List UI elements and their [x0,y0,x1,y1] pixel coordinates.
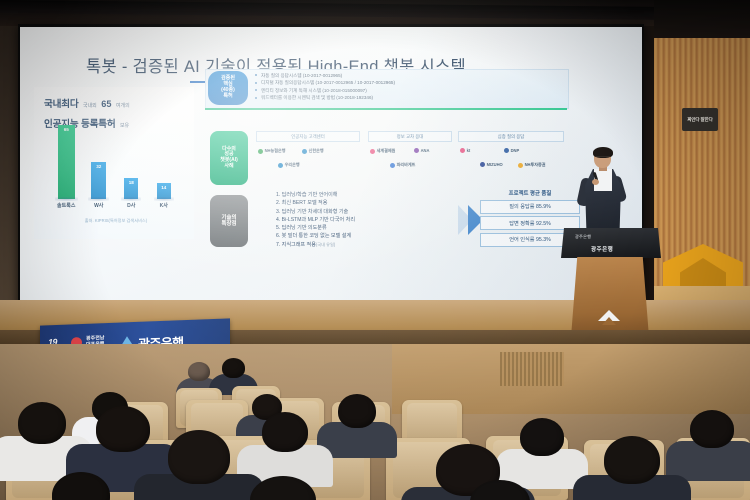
feature-item: 4. Bi-LSTM과 MLP 기반 다국어 처리 [276,216,456,224]
screenshot-root: 톡봇 - 검증된 AI 기술이 적용된 High-End 챗봇 시스템 국내최다… [0,0,750,500]
podium-logo: 광주은행 [575,234,591,240]
logo-column: 인공지능 고객센터NH농협은행신한은행우리은행 [256,131,360,186]
speaker-person [577,148,629,232]
glasses-icon [595,156,610,160]
client-logo-label: 신한은행 [309,148,324,154]
chart-head-mid: 국내외 [83,103,97,109]
client-logo-mark-icon [302,149,307,154]
bar-chart-plot: 65321814 [50,119,180,199]
audience-head [690,410,734,448]
chart-head-prefix: 국내최다 [44,99,79,110]
client-logo-mark-icon [414,148,419,153]
feature-item: 6. 봇 빌더 통한 코딩 없는 모델 설계 [276,232,456,240]
client-logo-mark-icon [278,163,283,168]
features-tag-line-1: 특장점 [222,221,237,227]
logo-column-header: 정보 교차 응대 [368,131,452,142]
green-divider [205,108,567,110]
chart-head-suffix: 여개의 [116,103,130,109]
client-logo-mark-icon [480,162,485,167]
client-logo-label: DNP [511,148,520,153]
presentation-slide: 톡봇 - 검증된 AI 기술이 적용된 High-End 챗봇 시스템 국내최다… [20,27,642,309]
patent-tag: 검증된핵심(40종)특허 [208,71,248,105]
audience-head [520,418,564,456]
client-logo-label: ANA [421,148,430,153]
audience-head [338,394,376,428]
chart-bar: 18 [124,178,138,199]
patent-tag-line-3: 특허 [223,94,232,100]
feature-list: 1. 딥러닝/학습 기반 언어이해2. 최신 BERT 모델 적용3. 딥러닝 … [276,191,456,251]
client-logo-label: MIZUHO [487,162,503,167]
patent-item: 자동 질의 응답시스템 (10-2017-0012965) [255,72,560,79]
podium-top [561,228,661,258]
audience-head [188,362,210,381]
bar-shadow [55,197,78,201]
patent-item: 디지털 자동 질의응답시스템 (10-2017-0012965 / 10-201… [255,79,560,86]
projection-screen: 톡봇 - 검증된 AI 기술이 적용된 High-End 챗봇 시스템 국내최다… [20,27,642,309]
podium-chevron-icon [598,310,620,328]
auditorium-seating [0,344,750,500]
podium-bank-name: 광주은행 [591,245,613,253]
client-logo-label: 우리은행 [285,162,300,168]
features-tag: 기술의특장점 [210,195,248,247]
logo-grid: ktDNPMIZUHONH투자증권 [458,146,564,186]
chart-source-note: 출처. KIPRIS(특허정보 검색서비스) [50,218,182,224]
chart-bar: 65 [58,125,75,199]
chart-bar: 32 [91,162,106,199]
client-logo-label: NH농협은행 [265,148,286,154]
chart-bar-value: 18 [129,180,134,185]
client-logo-mark-icon [504,148,509,153]
chart-bar-value: 65 [64,127,69,132]
cases-tag: 다수의성공챗봇(AI)사례 [210,131,248,185]
client-logo: ANA [414,148,429,153]
logo-column-header: 심층 질의 응답 [458,131,564,142]
wall-chevron-icon [663,228,743,286]
metrics-title: 프로젝트 평균 품질 [480,189,580,197]
patent-item: 워드벡터를 이용한 시멘틱 검색 및 방법 (10-2018-192346) [255,94,560,101]
chart-x-label: D사 [115,202,148,209]
chart-bar-value: 32 [96,164,101,169]
chart-x-label: W사 [83,202,116,209]
feature-item: 5. 딥러닝 기반 의도분류 [276,224,456,232]
audience-head [96,406,150,452]
audience-head [168,430,230,484]
logo-grid: NH농협은행신한은행우리은행 [256,146,360,186]
podium: 광주은행 광주은행 [565,228,657,336]
client-logo: 파리바게뜨 [390,162,415,168]
chart-head-number: 65 [101,99,111,109]
speaker-hand [592,179,599,185]
client-logo: NH농협은행 [258,148,286,154]
client-logo: NH투자증권 [518,162,546,168]
client-logo-mark-icon [460,148,465,153]
chart-x-label: 솔트룩스 [50,202,83,209]
patent-item: 엔티티 정보와 기계 독해 시스템 (10-2018-015000097) [255,87,560,94]
audience-head [222,358,245,378]
chart-bar-value: 14 [161,185,166,190]
client-logo: kt [460,148,470,153]
audience-head [262,412,308,452]
bar-shadow [88,197,109,201]
logo-column: 심층 질의 응답ktDNPMIZUHONH투자증권 [458,131,564,186]
feature-note: (국내 유일) [316,242,335,247]
client-logo: MIZUHO [480,162,503,167]
logo-column-header: 인공지능 고객센터 [256,131,360,142]
client-logo-mark-icon [518,163,523,168]
chart-x-label: K사 [148,202,181,209]
client-logo-label: kt [467,148,471,153]
patent-list: 자동 질의 응답시스템 (10-2017-0012965)디지털 자동 질의응답… [255,72,560,102]
client-logo: 세계결제원 [370,148,395,154]
wood-wall-top-shadow [654,0,750,40]
audience-head [18,402,66,444]
client-logo: 우리은행 [278,162,300,168]
feature-item: 2. 최신 BERT 모델 적용 [276,199,456,207]
wall-sign: 짜안다 잘한다 [682,108,718,131]
metric-row: 질의 응답률 85.9% [480,200,580,214]
client-logo-label: 세계결제원 [377,148,396,154]
client-logo: 신한은행 [302,148,324,154]
cases-tag-line-3: 사례 [224,164,233,170]
logo-grid: 세계결제원ANA파리바게뜨 [368,146,452,186]
feature-item: 7. 지식그래프 적용(국내 유일) [276,241,456,249]
client-logo-mark-icon [370,149,375,154]
client-logo-mark-icon [390,163,395,168]
feature-item: 3. 딥러닝 기반 차세대 대화형 기술 [276,208,456,216]
client-logo-mark-icon [258,149,263,154]
bar-shadow [121,197,141,201]
client-logo-label: 파리바게뜨 [397,162,416,168]
client-logo: DNP [504,148,519,153]
client-logo-label: NH투자증권 [525,162,546,168]
logo-column: 정보 교차 응대세계결제원ANA파리바게뜨 [368,131,452,186]
acoustic-panel [500,352,564,386]
feature-item: 1. 딥러닝/학습 기반 언어이해 [276,191,456,199]
client-logo-strip: 인공지능 고객센터NH농협은행신한은행우리은행정보 교차 응대세계결제원ANA파… [256,131,566,187]
audience-head [604,436,660,484]
bar-shadow [154,197,174,201]
